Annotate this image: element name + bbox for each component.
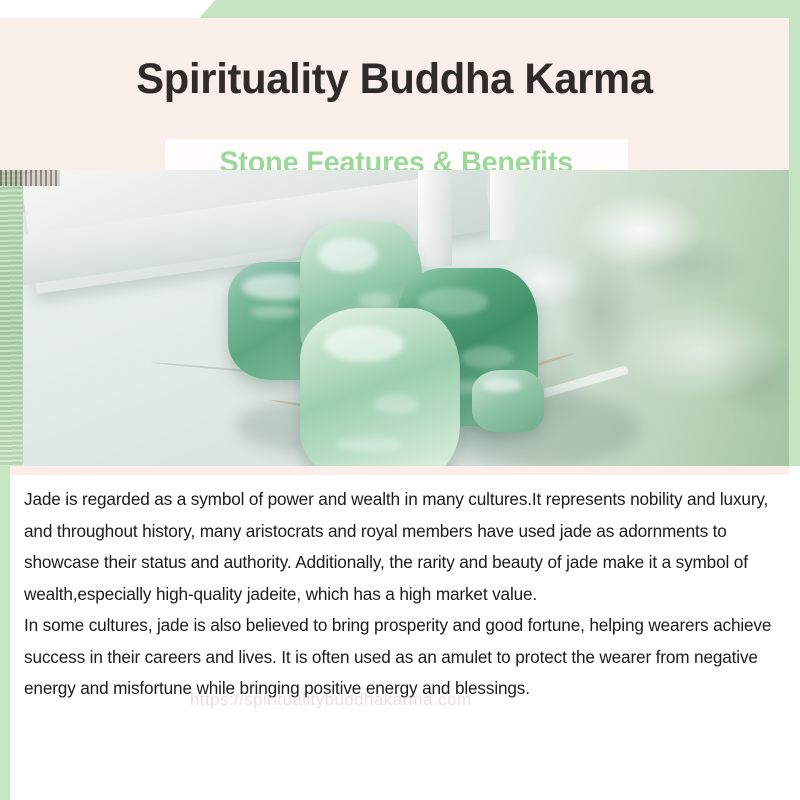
jade-stone — [300, 308, 460, 466]
body-paragraph: Jade is regarded as a symbol of power an… — [24, 484, 786, 610]
page-title: Spirituality Buddha Karma — [12, 58, 777, 101]
window-mullion-secondary — [490, 170, 516, 240]
jade-stone — [472, 370, 544, 432]
body-copy: Jade is regarded as a symbol of power an… — [24, 484, 786, 705]
body-text-area: Jade is regarded as a symbol of power an… — [0, 466, 800, 800]
header-panel: Spirituality Buddha Karma Stone Features… — [0, 18, 789, 178]
window-mullion — [418, 170, 452, 266]
left-accent-strip — [0, 466, 10, 800]
jade-info-poster: Spirituality Buddha Karma Stone Features… — [0, 0, 800, 800]
right-margin-strip — [789, 466, 800, 800]
photo-background — [0, 170, 789, 466]
photo-corner-texture — [0, 170, 60, 186]
body-top-divider — [10, 466, 789, 475]
body-paragraph: In some cultures, jade is also believed … — [24, 610, 786, 705]
photo-left-edge-texture — [0, 170, 23, 466]
jade-stones-photo: Jade — [0, 170, 789, 466]
